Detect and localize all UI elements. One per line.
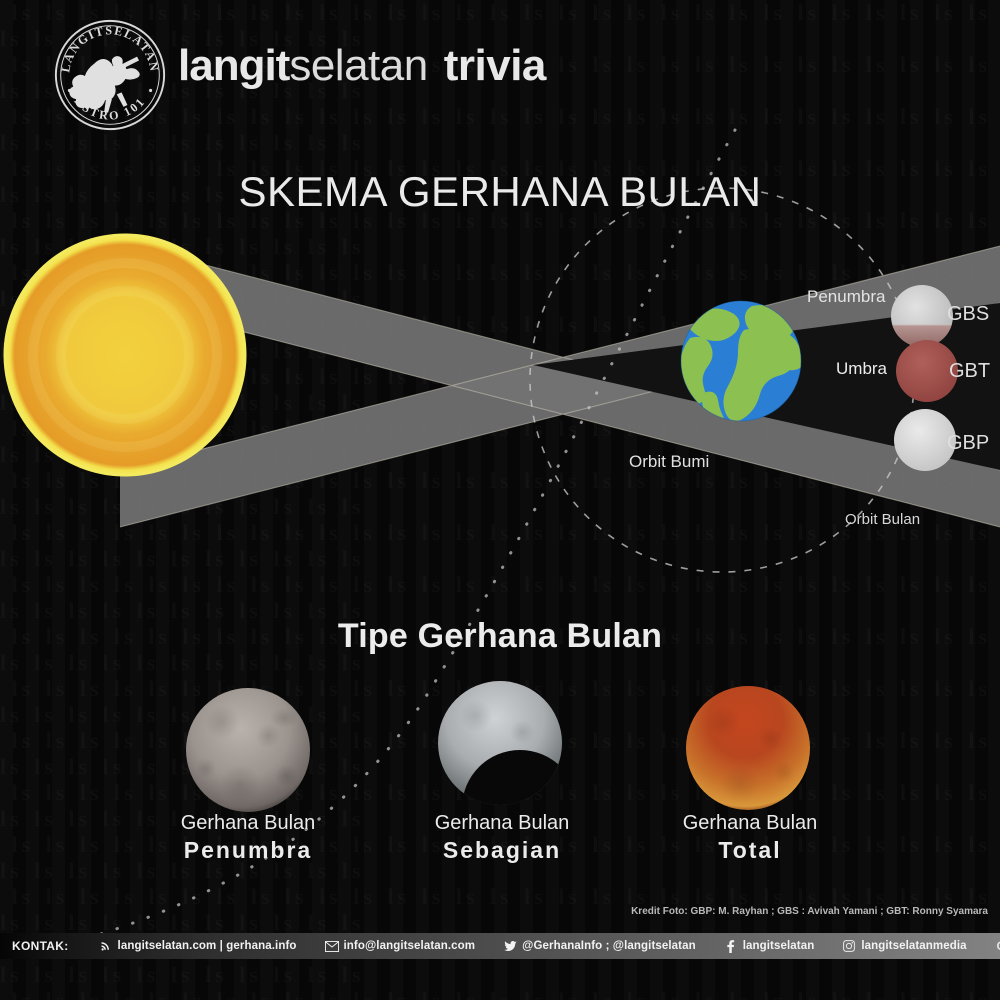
type-moon-total-image — [686, 686, 810, 810]
footer-item-label: info@langitselatan.com — [344, 940, 476, 952]
langitselatan-logo[interactable]: LANGITSELATAN ASTRO 101 — [52, 17, 168, 133]
footer-item-label: langitselatan — [743, 940, 815, 952]
label-orbit-bumi: Orbit Bumi — [629, 452, 709, 472]
header: LANGITSELATAN ASTRO 101 langitselatantri… — [0, 0, 1000, 130]
type-moon-penumbra-image — [186, 688, 310, 812]
type-caption-line1: Gerhana Bulan — [620, 810, 880, 836]
footer-item-label: @GerhanaInfo ; @langitselatan — [522, 940, 696, 952]
label-gbp: GBP — [947, 432, 989, 455]
moon-gbs — [891, 285, 953, 347]
scheme-title: SKEMA GERHANA BULAN — [0, 168, 1000, 216]
footer-item-googleplus[interactable]: G+ LangitselatanMedia — [995, 939, 1000, 953]
label-gbs: GBS — [947, 303, 989, 326]
label-umbra: Umbra — [836, 359, 887, 379]
footer-kontak-label: KONTAK: — [12, 939, 69, 953]
brand-title: langitselatantrivia — [178, 40, 546, 92]
photo-credit: Kredit Foto: GBP: M. Rayhan ; GBS : Aviv… — [631, 906, 988, 917]
types-title: Tipe Gerhana Bulan — [0, 617, 1000, 656]
facebook-icon — [724, 939, 738, 953]
footer-item-facebook[interactable]: langitselatan — [724, 939, 815, 953]
instagram-icon — [842, 939, 856, 953]
sun — [5, 235, 245, 475]
brand-bold: langit — [178, 41, 289, 90]
rss-icon — [99, 939, 113, 953]
envelope-icon — [325, 939, 339, 953]
footer-item-instagram[interactable]: langitselatanmedia — [842, 939, 966, 953]
infographic-canvas: ls ls ls ls ls ls ls ls ls ls ls ls ls l… — [0, 0, 1000, 1000]
label-penumbra: Penumbra — [807, 287, 885, 307]
footer-item-label: langitselatan.com | gerhana.info — [118, 940, 297, 952]
type-caption-line2: Penumbra — [118, 836, 378, 864]
twitter-icon — [503, 939, 517, 953]
type-caption-line1: Gerhana Bulan — [118, 810, 378, 836]
footer-contact-bar: KONTAK: langitselatan.com | gerhana.info… — [0, 933, 1000, 959]
footer-item-twitter[interactable]: @GerhanaInfo ; @langitselatan — [503, 939, 696, 953]
googleplus-icon: G+ — [995, 939, 1000, 953]
label-gbt: GBT — [949, 360, 990, 383]
footer-item-website[interactable]: langitselatan.com | gerhana.info — [99, 939, 297, 953]
footer-item-email[interactable]: info@langitselatan.com — [325, 939, 476, 953]
type-caption-penumbra: Gerhana Bulan Penumbra — [118, 810, 378, 864]
brand-suffix: trivia — [444, 41, 546, 90]
type-caption-line2: Total — [620, 836, 880, 864]
brand-light: selatan — [289, 41, 427, 90]
label-orbit-bulan: Orbit Bulan — [845, 511, 920, 528]
type-caption-sebagian: Gerhana Bulan Sebagian — [372, 810, 632, 864]
footer-item-label: langitselatanmedia — [861, 940, 966, 952]
type-caption-total: Gerhana Bulan Total — [620, 810, 880, 864]
type-caption-line1: Gerhana Bulan — [372, 810, 632, 836]
type-caption-line2: Sebagian — [372, 836, 632, 864]
